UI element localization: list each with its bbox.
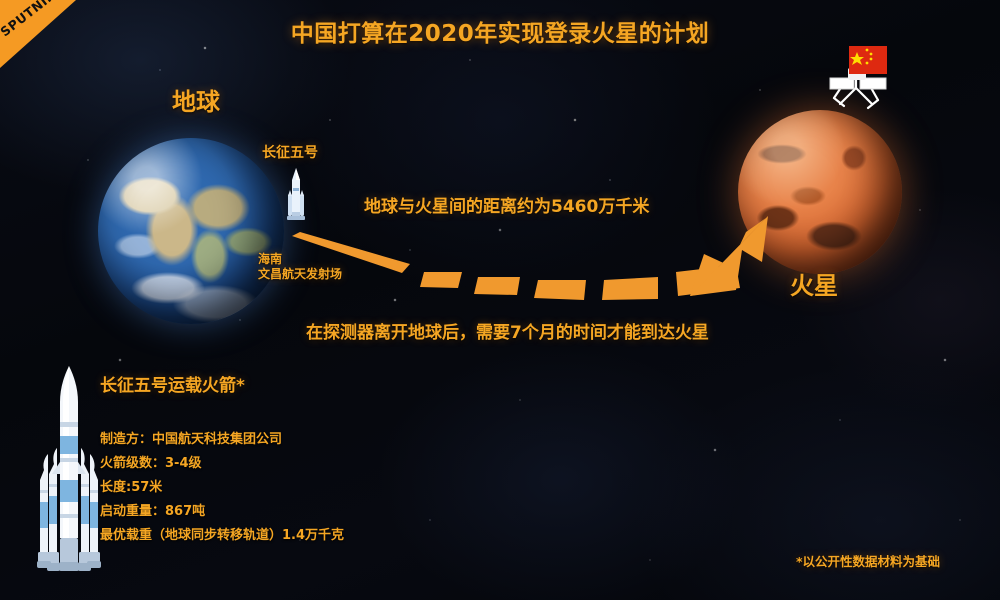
rocket-large-illustration (34, 362, 104, 580)
footnote: *以公开性数据材料为基础 (796, 551, 940, 570)
rocket-spec-list: 制造方：中国航天科技集团公司 火箭级数：3-4级 长度:57米 启动重量：867… (100, 428, 430, 548)
long-march-5-callout: 长征五号 (262, 142, 318, 162)
mars-label: 火星 (790, 266, 838, 301)
spec-manufacturer: 制造方：中国航天科技集团公司 (100, 428, 430, 452)
rocket-panel-title: 长征五号运载火箭* (100, 371, 245, 396)
mars-lander-icon (820, 28, 910, 114)
spec-payload: 最优载重（地球同步转移轨道）1.4万千克 (100, 524, 430, 548)
infographic-canvas: SPUTNIK 中国打算在2020年实现登录火星的计划 地球 火星 (0, 0, 1000, 600)
duration-note: 在探测器离开地球后，需要7个月的时间才能到达火星 (306, 318, 709, 343)
rocket-small-icon (283, 166, 309, 232)
china-flag-icon (849, 46, 887, 74)
earth-label: 地球 (172, 82, 220, 117)
launch-site-line-1: 海南 (258, 252, 342, 267)
launch-site-line-2: 文昌航天发射场 (258, 267, 342, 282)
earth-planet (98, 138, 284, 324)
launch-site-callout: 海南 文昌航天发射场 (258, 252, 342, 282)
spec-stages: 火箭级数：3-4级 (100, 452, 430, 476)
mars-planet (738, 110, 902, 274)
distance-note: 地球与火星间的距离约为5460万千米 (364, 192, 649, 217)
spec-liftoff-mass: 启动重量：867吨 (100, 500, 430, 524)
spec-length: 长度:57米 (100, 476, 430, 500)
